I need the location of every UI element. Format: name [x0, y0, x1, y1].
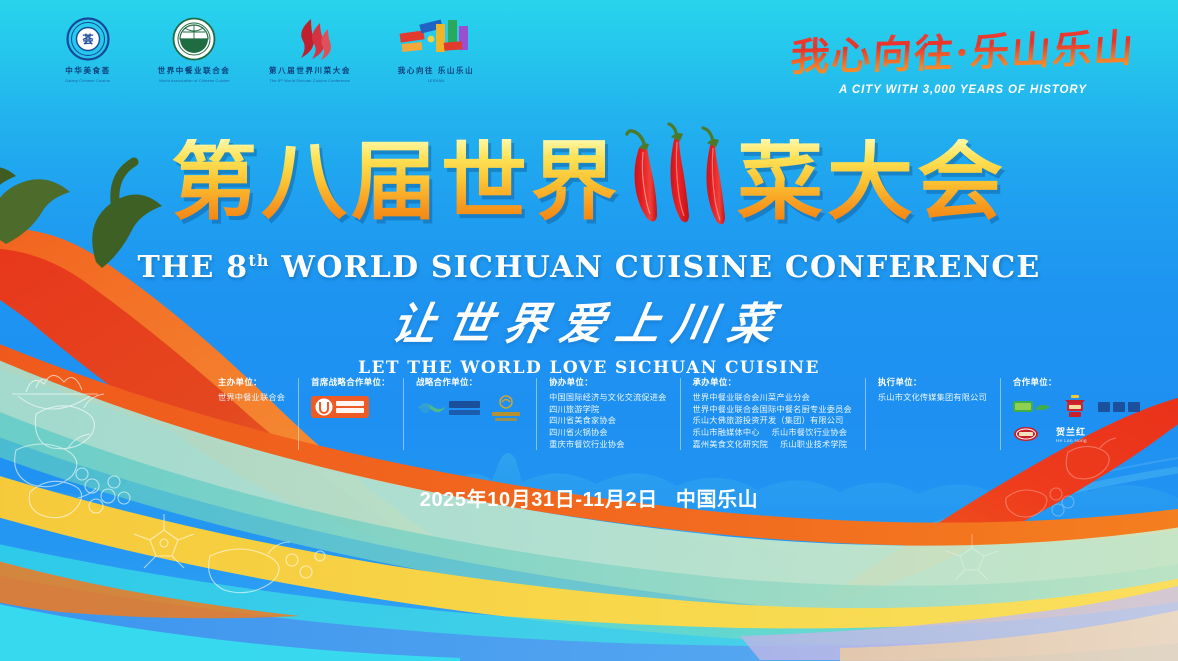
sponsor-wangjiadu-logo[interactable] [1097, 399, 1141, 415]
credit-line: 乐山大佛旅游投资开发（集团）有限公司 [693, 415, 852, 427]
credit-line: 四川旅游学院 [549, 404, 666, 416]
logo-leshan-city-tourism[interactable]: 我心向往 乐山乐山 LESHAN [382, 16, 490, 83]
credit-col-cooperating-partners: 合作单位： [1000, 376, 1154, 452]
tongwei-food-logo[interactable] [416, 396, 482, 422]
organizer-credits-strip: 主办单位： 世界中餐业联合会 首席战略合作单位： 战略合作单位 [205, 376, 1154, 452]
credit-line: 世界中餐业联合会国际中餐名厨专业委员会 [693, 404, 852, 416]
credit-col-strategic-partner: 战略合作单位： [403, 376, 536, 452]
partner-logo-row: 荟 中华美食荟 Galaxy Chinese Cuisine 世界中餐业联合会 … [44, 16, 490, 83]
sponsor-logo-row-2: 贺兰红 He Lan Hong [1013, 425, 1087, 443]
logo-label-en: The 8ᵗʰ World Sichuan Cuisine Conference [270, 78, 351, 83]
globe-emblem-mark [172, 16, 216, 62]
credit-heading: 主办单位： [218, 376, 285, 388]
title-en-ordinal: th [248, 251, 269, 270]
event-dateline: 2025年10月31日-11月2日中国乐山 [0, 483, 1178, 512]
title-cn-right: 菜大会 [737, 139, 1007, 225]
sponsor-logo-group: 贺兰红 He Lan Hong [1013, 394, 1141, 443]
credit-line: 世界中餐业联合会川菜产业分会 [693, 392, 852, 404]
qiannianweidao-logo[interactable] [489, 394, 523, 424]
credit-col-co-organizers: 协办单位： 中国国际经济与文化交流促进会 四川旅游学院 四川省美食家协会 四川省… [536, 376, 679, 452]
logo-label-cn: 我心向往 乐山乐山 [398, 65, 474, 76]
sponsor-logo-row-1 [1013, 394, 1141, 420]
flame-emblem-mark [287, 16, 333, 62]
svg-text:荟: 荟 [82, 32, 95, 46]
title-en-rest: WORLD SICHUAN CUISINE CONFERENCE [270, 250, 1041, 285]
logo-label-en: Galaxy Chinese Cuisine [65, 78, 110, 83]
logo-label-en: LESHAN [428, 78, 445, 83]
credit-col-executor: 执行单位： 乐山市文化传媒集团有限公司 [865, 376, 1000, 452]
unilever-food-solutions-logo[interactable] [311, 394, 369, 420]
logo-world-association-chinese-cuisine[interactable]: 世界中餐业联合会 World Association of Chinese Cu… [150, 16, 238, 83]
city-slogan-block: 我心向往·乐山乐山 A CITY WITH 3,000 YEARS OF HIS… [788, 22, 1138, 96]
credit-heading: 承办单位： [693, 376, 852, 388]
credit-col-chief-strategic-partner: 首席战略合作单位： [298, 376, 403, 452]
china-cuisine-association-mark: 荟 [66, 16, 110, 62]
title-en-prefix: THE 8 [137, 250, 248, 285]
credit-line: 四川省美食家协会 [549, 415, 666, 427]
credit-line: 嘉州美食文化研究院乐山职业技术学院 [693, 439, 852, 451]
credit-heading: 合作单位： [1013, 376, 1141, 388]
credit-col-host: 主办单位： 世界中餐业联合会 [205, 376, 298, 452]
credit-line: 世界中餐业联合会 [218, 392, 285, 404]
event-date: 2025年10月31日-11月2日 [420, 489, 658, 511]
logo-label-en: World Association of Chinese Cuisine [159, 78, 230, 83]
city-slogan-en: A CITY WITH 3,000 YEARS OF HISTORY [788, 84, 1138, 96]
city-slogan-cn: 我心向往·乐山乐山 [785, 17, 1140, 83]
chili-trio-chuan-glyph [623, 122, 735, 230]
credit-line: 四川省火锅协会 [549, 427, 666, 439]
credit-col-organizers: 承办单位： 世界中餐业联合会川菜产业分会 世界中餐业联合会国际中餐名厨专业委员会… [680, 376, 865, 452]
logo-label-cn: 中华美食荟 [65, 65, 111, 76]
campaign-slogan-block: 让世界爱上川菜 LET THE WORLD LOVE SICHUAN CUISI… [0, 288, 1178, 378]
sponsor-red-pagoda-logo[interactable] [1062, 394, 1088, 420]
leshan-wordmark-mark [398, 16, 474, 62]
credit-heading: 首席战略合作单位： [311, 376, 390, 388]
main-title-row: 第八届世界 [171, 128, 1007, 236]
sponsor-helanhong-label-cn: 贺兰红 [1056, 425, 1087, 438]
sponsor-helanhong-label-en: He Lan Hong [1056, 438, 1087, 443]
logo-world-sichuan-cuisine-conference[interactable]: 第八届世界川菜大会 The 8ᵗʰ World Sichuan Cuisine … [256, 16, 364, 83]
main-title-block: 第八届世界 [0, 128, 1178, 285]
credit-heading: 执行单位： [878, 376, 987, 388]
credit-line: 乐山市文化传媒集团有限公司 [878, 392, 987, 404]
logo-label-cn: 第八届世界川菜大会 [269, 65, 351, 76]
credit-line: 乐山市融媒体中心乐山市餐饮行业协会 [693, 427, 852, 439]
credit-line: 重庆市餐饮行业协会 [549, 439, 666, 451]
sponsor-helanhong-logo[interactable] [1013, 426, 1047, 442]
partner-logo-group [311, 394, 390, 420]
logo-china-cuisine-association[interactable]: 荟 中华美食荟 Galaxy Chinese Cuisine [44, 16, 132, 83]
logo-label-cn: 世界中餐业联合会 [158, 65, 231, 76]
credit-line: 中国国际经济与文化交流促进会 [549, 392, 666, 404]
campaign-slogan-cn: 让世界爱上川菜 [387, 288, 790, 352]
main-title-en: THE 8th WORLD SICHUAN CUISINE CONFERENCE [0, 250, 1178, 285]
credit-heading: 战略合作单位： [416, 376, 523, 388]
credit-heading: 协办单位： [549, 376, 666, 388]
event-location: 中国乐山 [676, 489, 758, 511]
partner-logo-group [416, 394, 523, 424]
sponsor-green-logo[interactable] [1013, 399, 1053, 415]
conference-poster: 荟 中华美食荟 Galaxy Chinese Cuisine 世界中餐业联合会 … [0, 0, 1178, 661]
campaign-slogan-en: LET THE WORLD LOVE SICHUAN CUISINE [0, 358, 1178, 378]
title-cn-left: 第八届世界 [171, 139, 621, 225]
